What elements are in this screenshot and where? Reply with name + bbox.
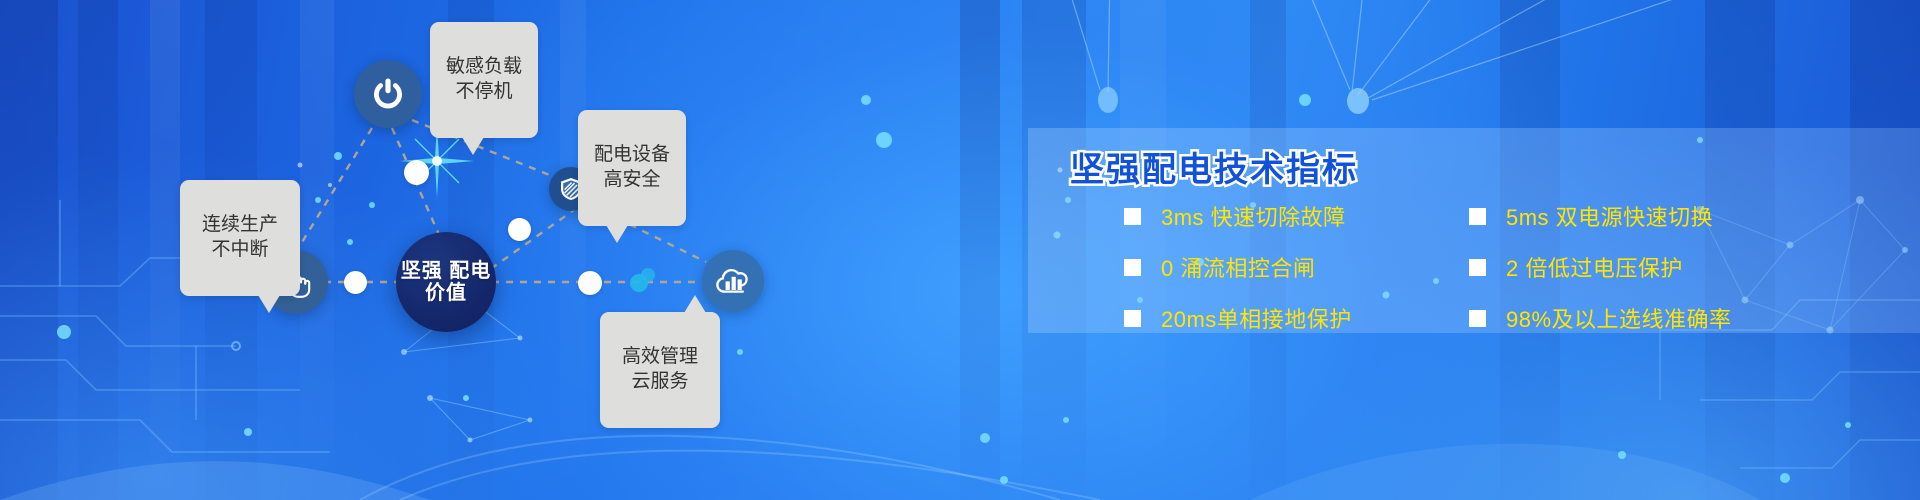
power-node[interactable]: [354, 60, 422, 128]
bullet-square-icon: [1124, 259, 1141, 276]
callout-text: 高效管理 云服务: [622, 346, 698, 391]
indicator-label: 2 倍低过电压保护: [1506, 251, 1683, 283]
cloud-node[interactable]: [702, 250, 764, 312]
center-node-label: 坚强 配电 价值: [396, 260, 496, 305]
callout-text: 敏感负载 不停机: [446, 56, 522, 101]
bullet-square-icon: [1469, 208, 1486, 225]
callout-cloud-management: 高效管理 云服务: [600, 312, 720, 428]
cloud-chart-icon: [712, 260, 754, 302]
callout-tail: [462, 137, 484, 155]
indicator-label: 3ms 快速切除故障: [1161, 200, 1346, 232]
connector-dot: [344, 271, 367, 294]
callout-tail: [606, 225, 628, 243]
indicator-label: 98%及以上选线准确率: [1506, 302, 1732, 334]
callout-tail: [258, 295, 280, 313]
callout-equipment-safety: 配电设备 高安全: [578, 110, 686, 226]
callout-text: 配电设备 高安全: [594, 144, 670, 189]
indicator-label: 20ms单相接地保护: [1161, 302, 1352, 334]
network-diagram: 坚强 配电 价值 敏感负载 不停机 配电设备 高安全 连续生产 不中断 高效管理…: [0, 0, 900, 500]
connector-dot: [508, 218, 531, 241]
power-icon: [368, 74, 408, 114]
indicator-item: 20ms单相接地保护: [1124, 302, 1469, 334]
bullet-square-icon: [1469, 259, 1486, 276]
bullet-square-icon: [1124, 208, 1141, 225]
connector-dot-cyan: [641, 268, 655, 282]
panel-title: 坚强配电技术指标: [1070, 142, 1358, 191]
connector-dot: [404, 160, 429, 185]
indicator-item: 5ms 双电源快速切换: [1469, 200, 1814, 232]
callout-sensitive-load: 敏感负载 不停机: [430, 22, 538, 138]
bullet-square-icon: [1469, 310, 1486, 327]
indicator-grid: 3ms 快速切除故障 5ms 双电源快速切换 0 涌流相控合闸 2 倍低过电压保…: [1124, 200, 1920, 334]
tech-indicator-panel: 坚强配电技术指标 3ms 快速切除故障 5ms 双电源快速切换 0 涌流相控合闸…: [1028, 128, 1920, 333]
banner-root: 坚强 配电 价值 敏感负载 不停机 配电设备 高安全 连续生产 不中断 高效管理…: [0, 0, 1920, 500]
callout-text: 连续生产 不中断: [202, 214, 278, 259]
callout-continuous-production: 连续生产 不中断: [180, 180, 300, 296]
callout-tail: [684, 295, 706, 313]
indicator-item: 3ms 快速切除故障: [1124, 200, 1469, 232]
indicator-label: 0 涌流相控合闸: [1161, 251, 1315, 283]
connector-dot: [578, 271, 602, 295]
indicator-item: 0 涌流相控合闸: [1124, 251, 1469, 283]
indicator-label: 5ms 双电源快速切换: [1506, 200, 1713, 232]
indicator-item: 2 倍低过电压保护: [1469, 251, 1814, 283]
indicator-item: 98%及以上选线准确率: [1469, 302, 1814, 334]
bullet-square-icon: [1124, 310, 1141, 327]
center-node[interactable]: 坚强 配电 价值: [396, 232, 496, 332]
